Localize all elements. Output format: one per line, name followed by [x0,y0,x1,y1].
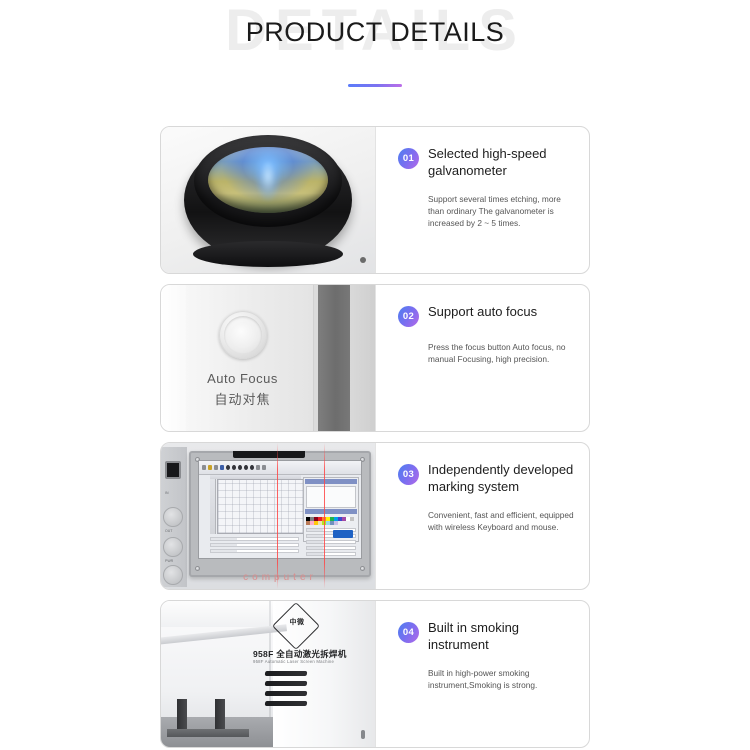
card-description: Press the focus button Auto focus, no ma… [428,341,575,365]
model-label-en: 958F Automatic Laser Screen Machine [253,659,334,664]
panel-titlebar [305,479,357,484]
title-divider [348,84,402,87]
auto-focus-button-icon [219,311,267,359]
card-number-badge: 03 [398,464,419,485]
toolbar-icon [208,465,212,470]
machine-dark-strip [318,285,350,431]
card-text-area: 04 Built in smoking instrument Built in … [376,601,589,747]
toolbar-icon [220,465,224,470]
card-description: Support several times etching, more than… [428,193,575,229]
panel-titlebar [305,509,357,514]
port-icon [165,461,181,479]
toolbar-icon [226,465,230,470]
lens-base [193,241,343,267]
toolbar-icon [238,465,242,470]
card-title: Selected high-speed galvanometer [428,146,575,179]
toolbar-icon [250,465,254,470]
card-title: Independently developed marking system [428,462,575,495]
machine-side-surface [350,285,375,431]
feature-card-list: 01 Selected high-speed galvanometer Supp… [160,126,590,750]
card-number-badge: 04 [398,622,419,643]
knob-icon [163,507,183,527]
smoking-instrument-photo: 中微 958F 全自动激光拆焊机 958F Automatic Laser Sc… [161,601,376,747]
lens-flare [255,151,281,201]
card-text-area: 01 Selected high-speed galvanometer Supp… [376,127,589,273]
laser-guide-line [324,443,325,589]
card-heading-row: 02 Support auto focus [398,304,575,327]
toolbar-icon [214,465,218,470]
card-text-area: 02 Support auto focus Press the focus bu… [376,285,589,431]
machine-rail [167,729,249,737]
galvanometer-lens-photo [161,127,376,273]
color-palette [306,517,356,525]
page-header: DETAILS PRODUCT DETAILS [0,0,750,108]
toolbar-icon [244,465,248,470]
computer-caption: computer [189,572,371,583]
page-title: PRODUCT DETAILS [0,19,750,46]
marking-software-tablet-photo: IN OUT PWR [161,443,376,589]
product-details-page: DETAILS PRODUCT DETAILS 01 Selected high… [0,0,750,750]
software-toolbar [199,461,361,475]
card-heading-row: 04 Built in smoking instrument [398,620,575,653]
machine-left-panel: IN OUT PWR [161,447,187,587]
auto-focus-button-photo: Auto Focus 自动对焦 [161,285,376,431]
knob-icon [163,565,183,585]
palette-swatch [334,521,338,525]
property-row [306,552,356,556]
laser-guide-line [277,443,278,589]
panel-action-button [333,530,353,538]
card-description: Built in high-power smoking instrument,S… [428,667,575,691]
panel-label: PWR [165,559,173,563]
feature-card-03[interactable]: IN OUT PWR [160,442,590,590]
photo-corner-dot-icon [360,257,366,263]
auto-focus-label-en: Auto Focus [175,371,310,386]
feature-card-01[interactable]: 01 Selected high-speed galvanometer Supp… [160,126,590,274]
machine-post [177,699,187,729]
auto-focus-label-cn: 自动对焦 [175,389,310,408]
panel-label: IN [165,491,169,495]
screw-icon [360,566,365,571]
card-number-badge: 01 [398,148,419,169]
vent-slot [265,671,308,676]
knob-icon [163,537,183,557]
software-status-rows [210,537,299,555]
vent-slots [265,671,307,711]
toolbar-icon [262,465,266,470]
card-heading-row: 03 Independently developed marking syste… [398,462,575,495]
card-heading-row: 01 Selected high-speed galvanometer [398,146,575,179]
card-text-area: 03 Independently developed marking syste… [376,443,589,589]
card-title: Built in smoking instrument [428,620,575,653]
feature-card-02[interactable]: Auto Focus 自动对焦 02 Support auto focus Pr… [160,284,590,432]
tablet-screen [198,460,362,559]
card-description: Convenient, fast and efficient, equipped… [428,509,575,533]
status-row [210,549,299,553]
vertical-ruler [210,479,216,534]
status-row [210,543,299,547]
feature-card-04[interactable]: 中微 958F 全自动激光拆焊机 958F Automatic Laser Sc… [160,600,590,748]
card-number-badge: 02 [398,306,419,327]
vent-slot [265,681,308,686]
vent-slot [265,691,308,696]
tablet-top-bezel [233,451,305,458]
panel-label: OUT [165,529,172,533]
toolbar-icon [202,465,206,470]
machine-handle-icon [361,730,365,739]
toolbar-icon [256,465,260,470]
brand-logo-text: 中微 [285,617,309,627]
screw-icon [195,566,200,571]
toolbar-icon [232,465,236,470]
panel-list-box [306,486,356,508]
software-properties-panel [303,477,359,542]
tablet-device [189,451,371,577]
machine-post [215,699,225,729]
card-title: Support auto focus [428,304,537,321]
vent-slot [265,701,308,706]
property-row [306,540,356,544]
machine-panel [186,285,314,431]
palette-swatch [350,517,354,521]
toolbar-icon-group [202,465,266,470]
property-row [306,546,356,550]
status-row [210,537,299,541]
